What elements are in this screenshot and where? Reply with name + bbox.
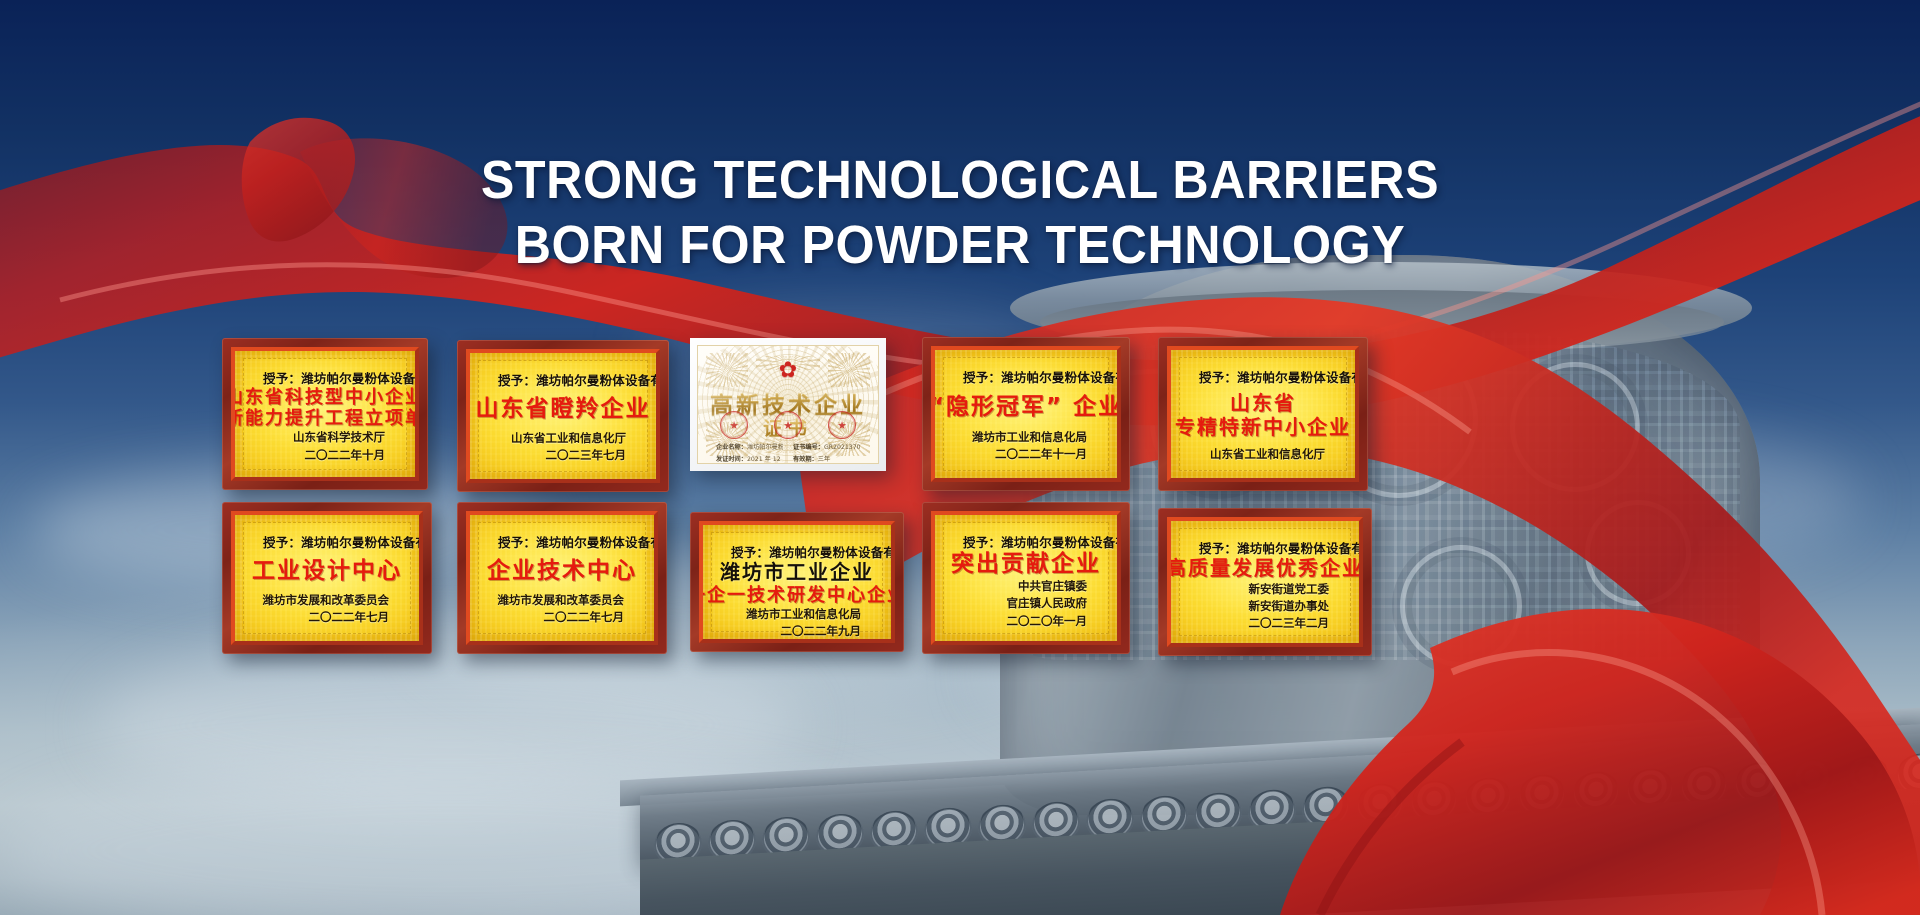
banner-stage: STRONG TECHNOLOGICAL BARRIERS BORN FOR P…	[0, 0, 1920, 915]
red-ribbon-front	[0, 0, 1920, 915]
